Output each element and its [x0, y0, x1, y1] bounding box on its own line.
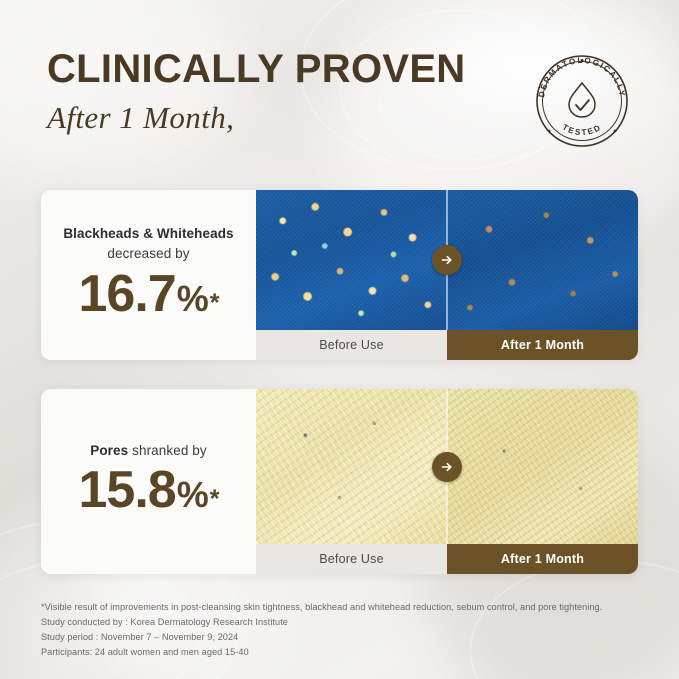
svg-text:DERMATOLOGICALLY: DERMATOLOGICALLY — [537, 56, 627, 98]
before-image-blackheads — [256, 190, 447, 330]
page-subtitle: After 1 Month, — [47, 100, 466, 136]
result-value: 15.8 — [79, 464, 176, 516]
footnote-line-2: Study conducted by : Korea Dermatology R… — [41, 615, 641, 630]
claim-highlight: Blackheads & Whiteheads — [63, 226, 233, 241]
arrow-right-icon — [432, 452, 462, 482]
after-image-pores — [447, 389, 638, 544]
footnote-line-3: Study period : November 7 – November 9, … — [41, 630, 641, 645]
card-claim-block: Blackheads & Whiteheads decreased by 16.… — [41, 190, 256, 360]
card-claim-block: Pores shranked by 15.8 % * — [41, 389, 256, 574]
card-image-comparison: Before Use After 1 Month — [256, 190, 638, 360]
page-title: CLINICALLY PROVEN — [47, 48, 466, 90]
result-card-pores: Pores shranked by 15.8 % * Before Use Af… — [41, 389, 638, 574]
result-value: 16.7 — [79, 268, 176, 320]
seal-bottom-text: TESTED — [561, 122, 604, 137]
claim-highlight: Pores — [90, 443, 128, 458]
result-percentage: 16.7 % * — [79, 268, 219, 320]
claim-line-2: shranked by — [132, 443, 207, 458]
claim-line-2: decreased by — [107, 244, 189, 264]
percent-symbol: % — [177, 477, 208, 513]
percent-symbol: % — [177, 281, 208, 317]
image-labels: Before Use After 1 Month — [256, 544, 638, 574]
footnote-block: *Visible result of improvements in post-… — [41, 600, 641, 660]
page-header: CLINICALLY PROVEN After 1 Month, — [47, 48, 466, 136]
before-image-pores — [256, 389, 447, 544]
result-percentage: 15.8 % * — [79, 464, 219, 516]
image-labels: Before Use After 1 Month — [256, 330, 638, 360]
asterisk-mark: * — [210, 291, 219, 316]
result-card-blackheads: Blackheads & Whiteheads decreased by 16.… — [41, 190, 638, 360]
water-drop-icon — [569, 83, 595, 117]
footnote-line-1: *Visible result of improvements in post-… — [41, 600, 641, 615]
svg-text:TESTED: TESTED — [561, 122, 604, 137]
dermatologically-tested-seal: DERMATOLOGICALLY TESTED — [528, 47, 636, 155]
arrow-right-icon — [432, 245, 462, 275]
card-image-comparison: Before Use After 1 Month — [256, 389, 638, 574]
after-image-blackheads — [447, 190, 638, 330]
claim-line-1: Pores shranked by — [90, 441, 207, 461]
seal-top-text: DERMATOLOGICALLY — [537, 56, 627, 98]
footnote-line-4: Participants: 24 adult women and men age… — [41, 645, 641, 660]
after-label: After 1 Month — [447, 330, 638, 360]
asterisk-mark: * — [210, 487, 219, 512]
after-label: After 1 Month — [447, 544, 638, 574]
before-label: Before Use — [256, 330, 447, 360]
before-label: Before Use — [256, 544, 447, 574]
claim-line-1: Blackheads & Whiteheads — [63, 224, 233, 244]
